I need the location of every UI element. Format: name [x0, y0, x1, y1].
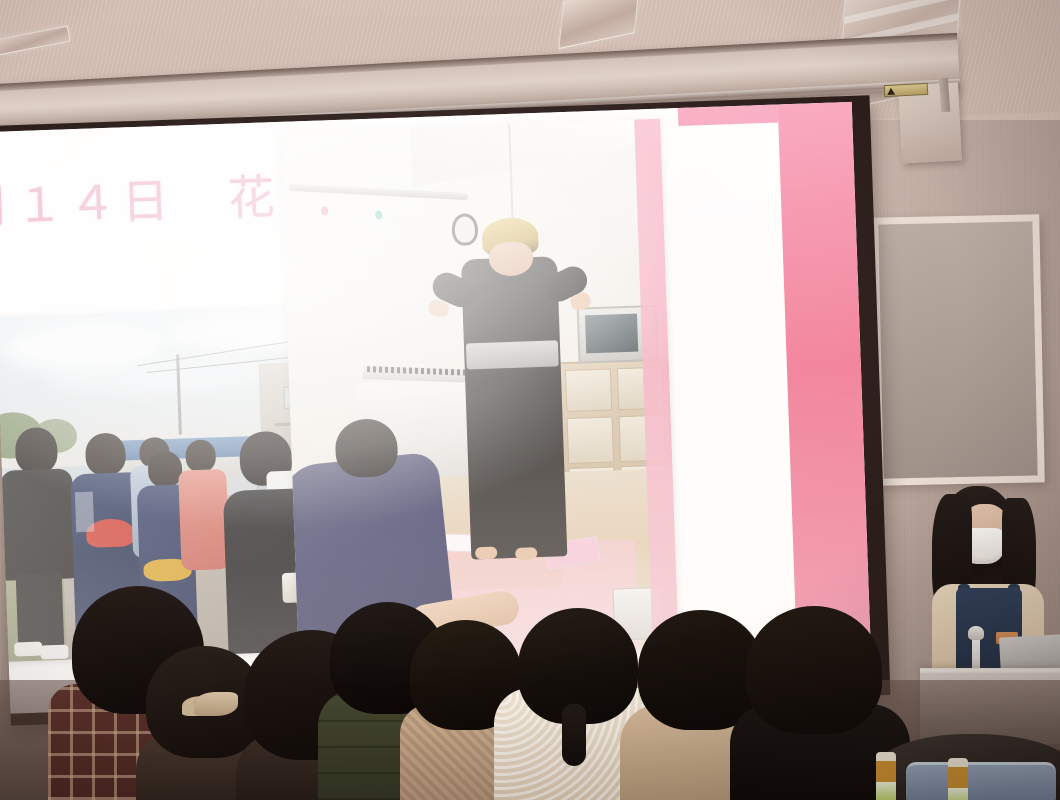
photo-right-obi: [466, 340, 559, 369]
tea-bottle: [876, 752, 896, 800]
microphone-icon: [968, 626, 984, 640]
slide-accent-band: [778, 102, 872, 686]
wall-panel: [871, 214, 1045, 485]
tea-bottle: [948, 758, 968, 800]
lecture-hall-scene: 月１４日 花火大会: [0, 0, 1060, 800]
warning-label-icon: [884, 83, 929, 97]
chair: [906, 762, 1056, 800]
ponytail: [562, 704, 586, 766]
audience-member-8: [730, 605, 900, 800]
slide-photo-right: [280, 119, 678, 662]
slide-accent-band-top: [678, 104, 779, 125]
hair-bow-accessory: [194, 692, 238, 716]
